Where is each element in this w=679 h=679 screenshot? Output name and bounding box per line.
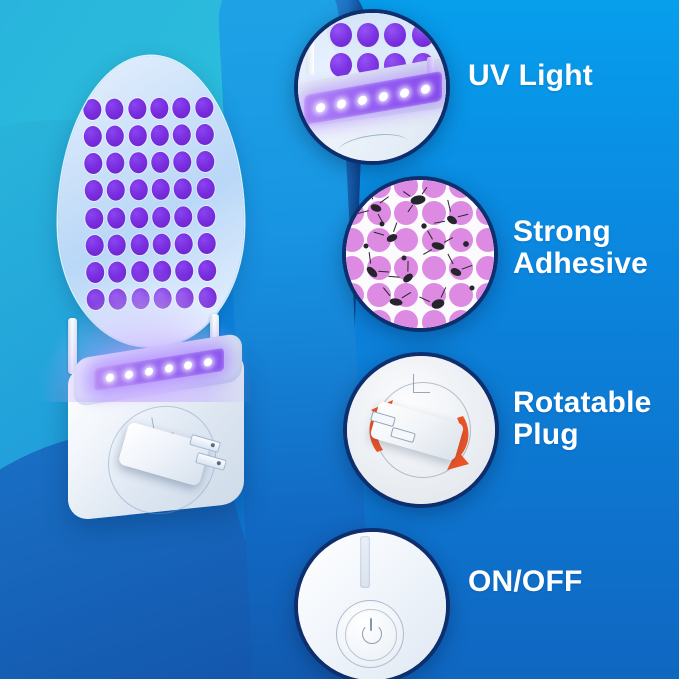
adhesive-dot [196,178,214,199]
device-base [68,346,248,526]
uv-led [400,87,409,98]
prong-hole [216,461,221,466]
prong-hole [210,443,215,448]
on-off-scene [298,532,446,679]
adhesive-pad-panel [58,56,244,346]
callout-label-rotatable-plug: Rotatable Plug [513,387,652,451]
adhesive-dot [128,125,146,146]
adhesive-dot [195,124,213,145]
callout-circle-uv-light [294,9,450,165]
uv-led [125,370,133,379]
label-line: Adhesive [513,248,648,280]
adhesive-dot [174,152,192,173]
adhesive-dot [195,97,213,118]
callout-label-on-off: ON/OFF [468,566,583,598]
adhesive-dot [128,98,146,119]
adhesive-dot [85,207,103,228]
adhesive-dot [86,235,104,256]
callout-circle-strong-adhesive [342,176,498,332]
adhesive-dot [151,125,169,146]
power-icon-bar [370,618,372,631]
adhesive-scene [346,180,494,328]
adhesive-dot [83,99,101,120]
power-button[interactable] [336,600,404,668]
adhesive-dot [173,124,191,145]
adhesive-dot [174,179,192,200]
uv-led [421,83,430,94]
uv-led [379,91,388,102]
power-button-ring [345,609,397,661]
adhesive-dot [152,206,170,227]
hinge-post [306,41,314,75]
adhesive-dot [107,180,125,201]
adhesive-dot [196,151,214,172]
adhesive-dot [107,153,125,174]
adhesive-dot [84,153,102,174]
adhesive-dot [130,207,148,228]
product-illustration [44,56,294,556]
adhesive-dot [106,126,124,147]
infographic-canvas: UV Light [0,0,679,679]
rotatable-plug-scene [347,356,495,504]
uv-light-scene [298,13,446,161]
adhesive-dot [175,233,193,254]
adhesive-dot [129,152,147,173]
housing-seam [360,536,370,588]
adhesive-dot [330,23,352,47]
adhesive-dot [130,234,148,255]
adhesive-dot [150,98,168,119]
adhesive-dot [197,233,215,254]
adhesive-dot [108,234,126,255]
label-line: Plug [513,419,652,451]
uv-led [184,360,192,369]
trapped-insects-layer [346,180,494,328]
uv-led [337,98,346,109]
adhesive-dot [108,207,126,228]
uv-led [316,102,325,113]
adhesive-dot [197,205,215,226]
label-line: Rotatable [513,387,652,419]
adhesive-dot [384,23,406,47]
adhesive-dot [175,206,193,227]
callout-circle-on-off [294,528,450,679]
callout-circle-rotatable-plug [343,352,499,508]
adhesive-dot [151,152,169,173]
uv-led [204,357,212,366]
adhesive-dot [357,23,379,47]
callout-label-strong-adhesive: Strong Adhesive [513,216,648,280]
adhesive-dot [412,23,434,47]
adhesive-dot [152,179,170,200]
label-line: Strong [513,216,648,248]
uv-led [165,363,173,372]
adhesive-dot [153,233,171,254]
adhesive-dot [85,180,103,201]
uv-led [106,373,114,382]
adhesive-dot [84,126,102,147]
adhesive-dot [129,179,147,200]
callout-label-uv-light: UV Light [468,60,593,92]
uv-led [358,95,367,106]
adhesive-dot [173,97,191,118]
uv-led [145,366,153,375]
power-icon [362,624,382,644]
adhesive-dot [106,99,124,120]
